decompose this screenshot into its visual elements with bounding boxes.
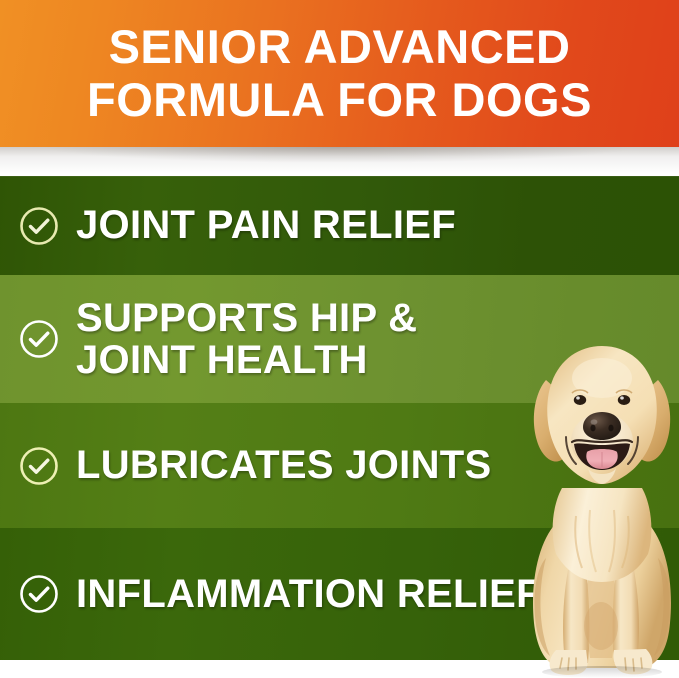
benefit-row-supports-hip-and-joint-health: SUPPORTS HIP & JOINT HEALTH [0,275,679,403]
benefit-label: SUPPORTS HIP & JOINT HEALTH [76,297,546,382]
bottom-white-strip [0,660,679,678]
benefit-label: LUBRICATES JOINTS [76,444,492,486]
benefit-label: INFLAMMATION RELIEF [76,573,541,615]
circle-check-icon [18,205,60,247]
benefit-label: JOINT PAIN RELIEF [76,204,456,246]
circle-check-icon [18,573,60,615]
benefit-bars-list: JOINT PAIN RELIEF SUPPORTS HIP & JOINT H… [0,176,679,660]
header-title-line-2: FORMULA FOR DOGS [87,74,592,127]
header-title-line-1: SENIOR ADVANCED [109,21,571,74]
product-infographic: SENIOR ADVANCED FORMULA FOR DOGS JOINT P… [0,0,679,678]
circle-check-icon [18,318,60,360]
header-banner: SENIOR ADVANCED FORMULA FOR DOGS [0,0,679,147]
benefit-row-lubricates-joints: LUBRICATES JOINTS [0,403,679,528]
benefit-row-joint-pain-relief: JOINT PAIN RELIEF [0,176,679,275]
benefit-row-inflammation-relief: INFLAMMATION RELIEF [0,528,679,660]
circle-check-icon [18,445,60,487]
header-title-block: SENIOR ADVANCED FORMULA FOR DOGS [0,0,679,147]
